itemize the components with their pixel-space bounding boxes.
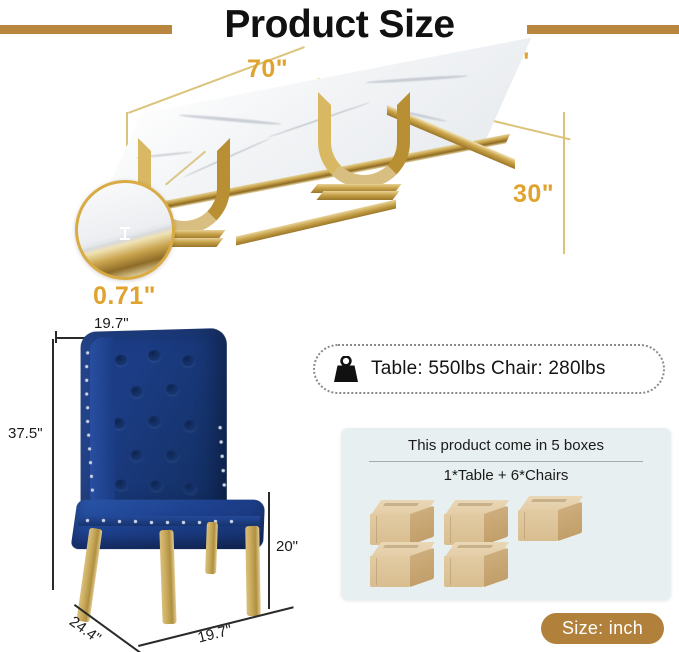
- chair-wing-panel: [90, 337, 115, 507]
- table-leg-back: [318, 92, 410, 196]
- thickness-magnifier: [75, 180, 175, 280]
- packaging-subtitle: 1*Table + 6*Chairs: [341, 467, 671, 484]
- weight-capacity-text: Table: 550lbs Chair: 280lbs: [371, 358, 606, 380]
- size-unit-badge: Size: inch: [541, 613, 664, 644]
- package-box: [444, 542, 510, 589]
- packaging-panel: This product come in 5 boxes 1*Table + 6…: [341, 428, 671, 600]
- chair-illustration: [60, 330, 300, 630]
- chair-height-dimension-line: [52, 339, 54, 590]
- page-title: Product Size: [0, 2, 679, 48]
- weight-icon: [331, 356, 361, 383]
- package-box: [370, 542, 436, 589]
- weight-capacity-badge: Table: 550lbs Chair: 280lbs: [313, 344, 665, 394]
- chair-width-tick-left: [55, 331, 57, 343]
- table-illustration: [108, 72, 558, 302]
- chair-leg-back-left: [205, 522, 218, 574]
- chair-backrest: [81, 328, 227, 510]
- packaging-title: This product come in 5 boxes: [341, 437, 671, 454]
- guide-line-height-axis: [563, 112, 565, 254]
- chair-seat-height-label: 20": [276, 538, 298, 555]
- product-size-infographic: Product Size 70" 35" 30": [0, 0, 679, 652]
- table-thickness-label: 0.71": [93, 282, 156, 311]
- package-box: [518, 496, 584, 543]
- package-box: [370, 500, 436, 547]
- packaging-divider: [369, 461, 643, 462]
- chair-leg-back-right: [245, 526, 261, 616]
- chair-total-height-label: 37.5": [8, 425, 43, 442]
- package-box: [444, 500, 510, 547]
- thickness-measure-mark: [124, 227, 126, 240]
- table-stretcher-bar: [236, 200, 396, 246]
- chair-seat-height-dimension-line: [268, 492, 270, 609]
